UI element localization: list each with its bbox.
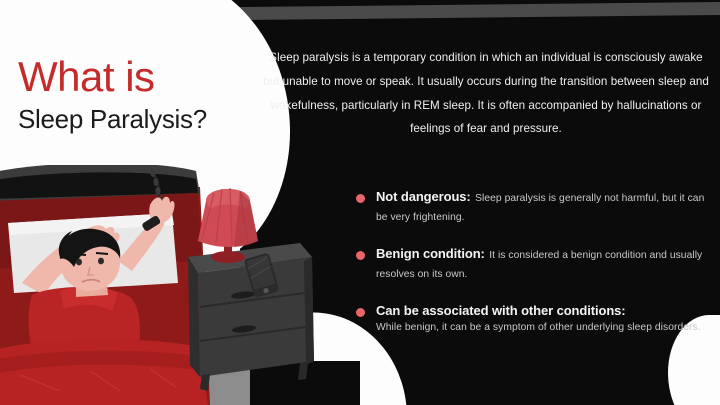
bullet-heading: Not dangerous:	[376, 189, 471, 204]
bullet-body: While benign, it can be a symptom of oth…	[376, 321, 708, 336]
bullet-heading: Benign condition:	[376, 246, 485, 261]
bullet-list: Not dangerous: Sleep paralysis is genera…	[356, 188, 708, 336]
list-item: Benign condition: It is considered a ben…	[356, 245, 708, 282]
watermark-logo	[14, 4, 110, 22]
list-item: Not dangerous: Sleep paralysis is genera…	[356, 188, 708, 225]
intro-paragraph: Sleep paralysis is a temporary condition…	[262, 46, 710, 141]
sleep-paralysis-illustration	[0, 165, 360, 405]
bullet-dot-icon	[356, 194, 365, 203]
bullet-dot-icon	[356, 308, 365, 317]
page-title: What is Sleep Paralysis?	[18, 55, 258, 137]
bullet-dot-icon	[356, 251, 365, 260]
list-item: Can be associated with other conditions:…	[356, 302, 708, 336]
title-line-1: What is	[18, 55, 258, 99]
bullet-heading: Can be associated with other conditions:	[376, 303, 626, 318]
slide-canvas: What is Sleep Paralysis? Sleep paralysis…	[0, 0, 720, 405]
title-line-2: Sleep Paralysis?	[18, 103, 258, 137]
